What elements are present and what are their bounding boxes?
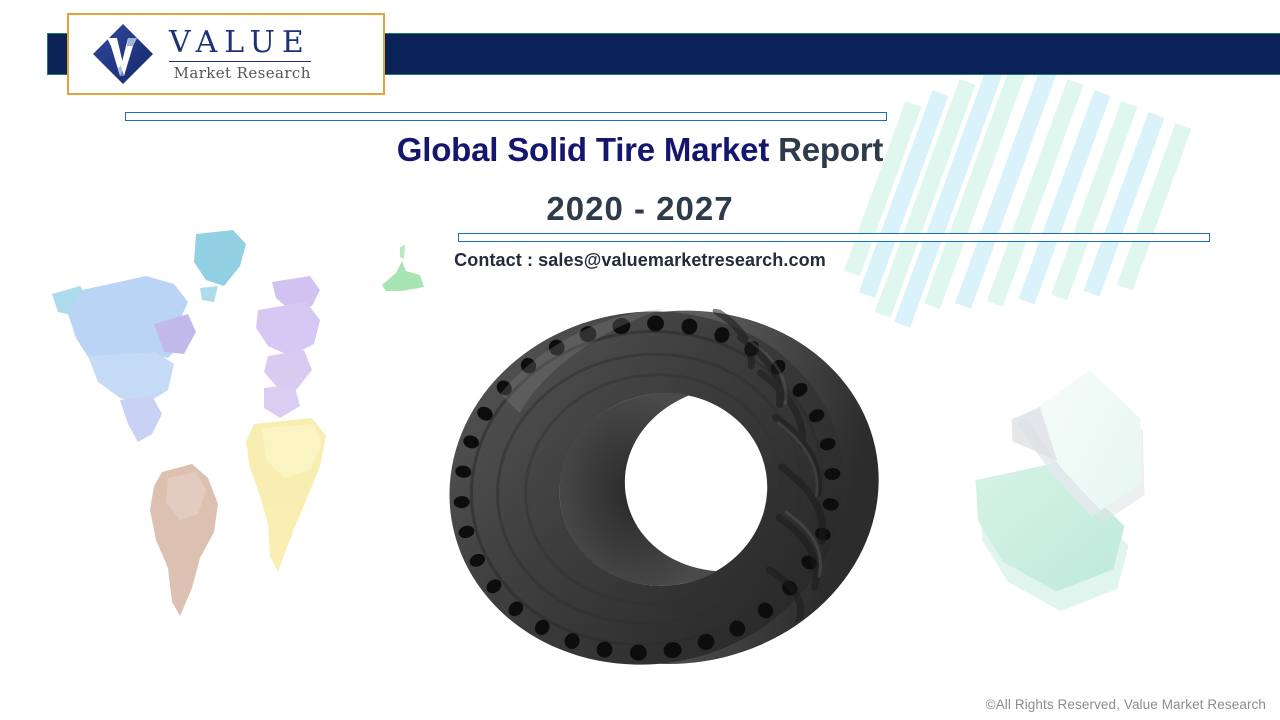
solid-tire-photo [425, 300, 895, 675]
stripe [955, 68, 1056, 309]
world-map-illustration [28, 228, 368, 648]
title-rule-bottom [458, 233, 1210, 242]
company-logo: VALUE Market Research [67, 13, 385, 95]
exploded-pie-chart-decoration [950, 360, 1200, 640]
logo-secondary-text: Market Research [169, 66, 311, 81]
header-bar [385, 33, 1280, 75]
page-title-main: Global Solid Tire Market [397, 131, 769, 168]
report-cover-page: VALUE Market Research Global Solid Tire … [0, 0, 1280, 720]
logo-wordmark: VALUE Market Research [169, 28, 311, 81]
report-period: 2020 - 2027 [0, 190, 1280, 228]
stripe [924, 57, 1030, 309]
page-title: Global Solid Tire Market Report [0, 131, 1280, 169]
v-diamond-icon [91, 22, 155, 86]
page-title-suffix: Report [769, 131, 883, 168]
copyright-footer: ©All Rights Reserved, Value Market Resea… [986, 697, 1266, 712]
logo-primary-text: VALUE [169, 28, 311, 62]
title-rule-top [125, 112, 887, 121]
header-bar-left-stub [47, 33, 69, 75]
asia-map-fragment [372, 243, 442, 298]
